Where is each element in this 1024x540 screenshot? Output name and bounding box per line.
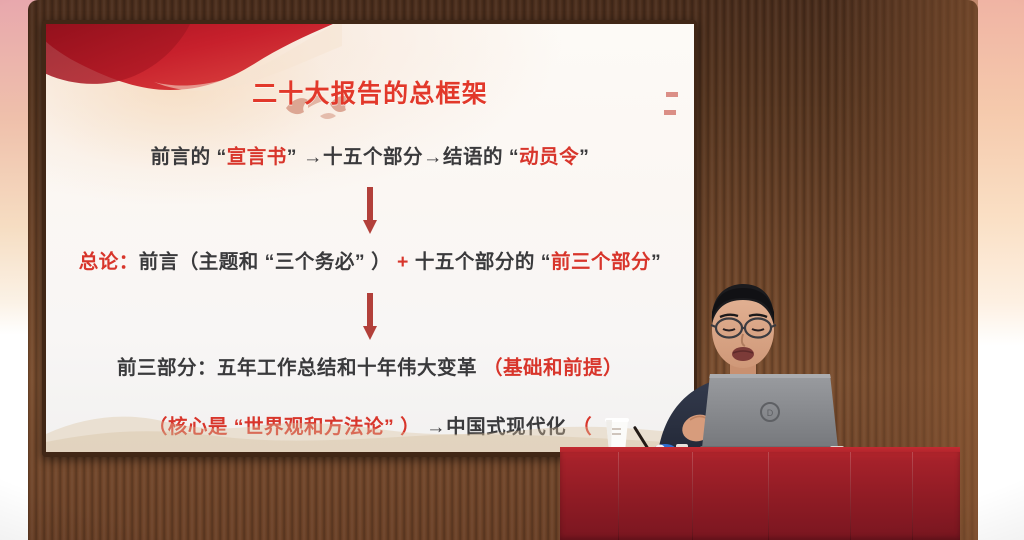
slide-text-segment: 宣言书 (227, 146, 287, 168)
table-skirt (560, 452, 960, 540)
slide-text-segment: （基础和前提） (477, 357, 623, 379)
slide-line-3: 总论：前言（主题和 “三个务必” ） + 十五个部分的 “前三个部分” (46, 245, 694, 274)
slide-text-segment: 前言的 “ (151, 146, 227, 168)
down-arrow-2 (362, 293, 378, 346)
slide-line-2: 前言的 “宣言书” →十五个部分→结语的 “动员令” (46, 140, 694, 169)
slide-text-segment: 总论： (79, 251, 139, 273)
laptop[interactable]: D (700, 372, 840, 454)
slide-text-segment: 十五个部分的 “ (415, 251, 551, 273)
accent-tick-2 (664, 110, 676, 115)
presentation-slide[interactable]: 二十大报告的总框架 前言的 “宣言书” →十五个部分→结语的 “动员令” 总论：… (46, 24, 694, 452)
slide-warm-glow (46, 24, 448, 204)
slide-text-segment: →中国式现代化 (420, 416, 572, 438)
slide-text-segment: ” (579, 146, 589, 168)
slide-text-segment: ” (651, 251, 661, 273)
slide-text-segment: 前三部分：五年工作总结和十年伟大变革 (117, 357, 477, 379)
slide-title: 二十大报告的总框架 (46, 74, 694, 110)
svg-text:D: D (767, 408, 774, 418)
lecture-scene: 二十大报告的总框架 前言的 “宣言书” →十五个部分→结语的 “动员令” 总论：… (0, 0, 1024, 540)
slide-text-segment: 动员令 (519, 146, 579, 168)
slide-text-segment: （核心是 “世界观和方法论” ） (148, 416, 420, 438)
slide-text-segment: 前言（主题和 “三个务必” ） (139, 251, 391, 273)
slide-text-segment: ” →十五个部分→结语的 “ (287, 146, 519, 168)
slide-text-segment: 前三个部分 (551, 251, 651, 273)
down-arrow-1 (362, 187, 378, 240)
projection-screen-frame: 二十大报告的总框架 前言的 “宣言书” →十五个部分→结语的 “动员令” 总论：… (42, 20, 697, 457)
slide-text-segment: + (391, 251, 415, 273)
slide-line-4: 前三部分：五年工作总结和十年伟大变革 （基础和前提） (46, 351, 694, 380)
slide-text-segment: （ (572, 416, 592, 438)
slide-line-5: （核心是 “世界观和方法论” ） →中国式现代化 （ (46, 410, 694, 439)
